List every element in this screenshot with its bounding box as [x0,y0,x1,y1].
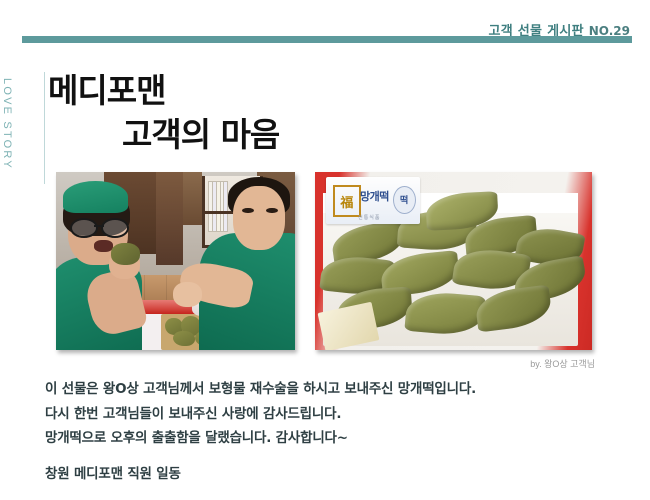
cabinet-3 [183,172,202,225]
message-body: 이 선물은 왕O상 고객님께서 보형물 재수술을 하시고 보내주신 망개떡입니다… [45,380,615,454]
message-line-3: 망개떡으로 오후의 출출함을 달랬습니다. 감사합니다~ [45,429,615,449]
person-right-eye-right [266,208,278,213]
love-story-text: LOVE STORY [1,78,13,170]
bok-character-icon: 福 [333,185,361,218]
mangaetteok-box-photo: 福 망개떡 떡 전통식품 [315,172,592,350]
product-sub-text: 전통식품 [358,214,380,221]
signature-text: 창원 메디포맨 직원 일동 [45,462,181,482]
page-title-line-1: 메디포맨 [48,74,568,107]
page-root: 고객 선물 게시판 NO.29 LOVE STORY 메디포맨 고객의 마음 [0,0,650,500]
photo-credit-caption: by. 왕O상 고객님 [470,357,595,370]
person-left-glasses-bridge [94,225,104,227]
page-title-line-2: 고객의 마음 [48,118,568,151]
person-right-hand [173,282,202,307]
product-label: 福 망개떡 떡 전통식품 [326,177,420,223]
love-story-label: LOVE STORY [2,78,24,188]
person-right-head [233,186,286,250]
person-right-eye-left [242,208,254,213]
page-title: 메디포맨 고객의 마음 [48,74,568,151]
held-rice-cake [111,243,140,264]
person-left-surgical-cap [63,181,128,213]
photo-content-left [56,172,295,350]
product-seal-icon: 떡 [393,186,416,214]
product-name-text: 망개떡 [360,188,389,204]
message-line-2: 다시 한번 고객님들이 보내주신 사랑에 감사드립니다. [45,405,615,425]
message-line-1: 이 선물은 왕O상 고객님께서 보형물 재수술을 하시고 보내주신 망개떡입니다… [45,380,615,400]
cabinet-2 [156,172,182,265]
vertical-rule [44,72,45,184]
photo-content-right: 福 망개떡 떡 전통식품 [315,172,592,350]
rice-cake-4 [173,331,194,347]
staff-eating-photo [56,172,295,350]
header-divider-bar [22,36,632,43]
